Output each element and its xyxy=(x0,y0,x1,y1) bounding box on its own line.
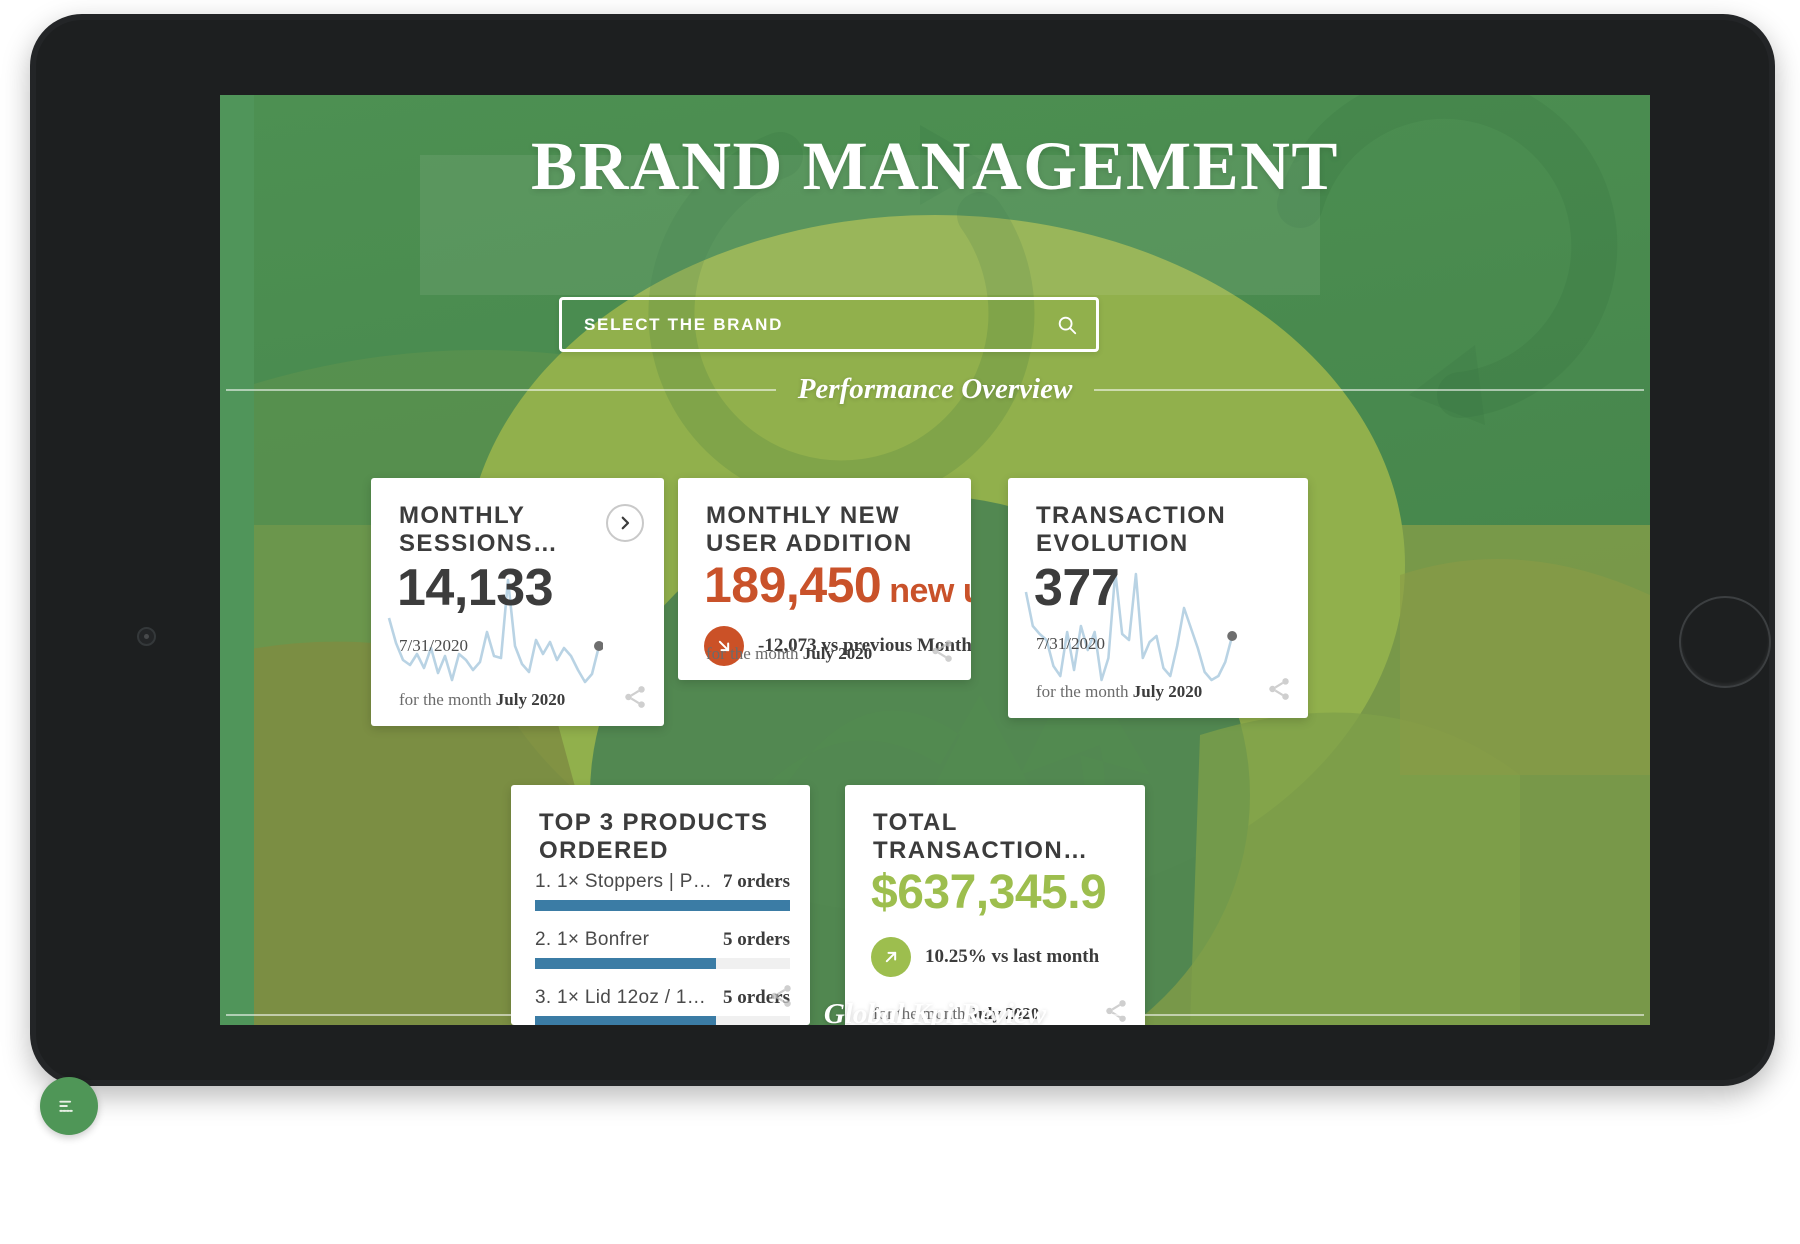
share-icon[interactable] xyxy=(929,638,955,664)
camera-icon xyxy=(137,627,156,646)
share-icon[interactable] xyxy=(622,684,648,710)
chevron-right-icon[interactable] xyxy=(606,504,644,542)
card-total-transaction[interactable]: TOTAL TRANSACTION… $637,345.9 10.25% vs … xyxy=(845,785,1145,1025)
card-monthly-new-user-addition[interactable]: MONTHLY NEW USER ADDITION 189,450new use… xyxy=(678,478,971,680)
kpi-value-row: 189,450new use xyxy=(704,556,971,614)
card-title: TOP 3 PRODUCTS ORDERED xyxy=(539,809,799,866)
delta-text: 10.25% vs last month xyxy=(925,946,1099,968)
product-name: 2. 1× Bonfrer xyxy=(535,929,649,951)
share-icon[interactable] xyxy=(1266,676,1292,702)
search-icon[interactable] xyxy=(1056,314,1078,336)
search-input[interactable]: SELECT THE BRAND xyxy=(584,315,1056,335)
footer-prefix: for the month xyxy=(706,644,799,663)
card-footer: for the month July 2020 xyxy=(1036,682,1202,702)
kpi-value: 189,450 xyxy=(704,557,881,613)
footer-prefix: for the month xyxy=(399,690,492,709)
delta-row: 10.25% vs last month xyxy=(871,937,1099,977)
section-divider-performance: Performance Overview xyxy=(220,373,1650,406)
card-title: MONTHLY NEW USER ADDITION xyxy=(706,502,956,559)
card-title: TRANSACTION EVOLUTION xyxy=(1036,502,1266,559)
card-footer: for the month July 2020 xyxy=(706,644,872,664)
list-item[interactable]: 2. 1× Bonfrer 5 orders xyxy=(535,929,790,969)
kpi-value: $637,345.9 xyxy=(871,865,1106,920)
tablet-device: BRAND MANAGEMENT SELECT THE BRAND Perfor… xyxy=(30,14,1775,1086)
product-orders: 7 orders xyxy=(723,871,790,893)
brand-search-box[interactable]: SELECT THE BRAND xyxy=(559,297,1099,352)
divider-rule-right xyxy=(1068,1014,1644,1016)
section-title-performance: Performance Overview xyxy=(798,373,1073,406)
card-transaction-evolution[interactable]: TRANSACTION EVOLUTION 377 7/31/2020 for … xyxy=(1008,478,1308,718)
product-bar-track xyxy=(535,900,790,911)
arrow-up-right-icon xyxy=(871,937,911,977)
footer-value: July 2020 xyxy=(803,644,872,663)
product-name: 1. 1× Stoppers | P… xyxy=(535,871,712,893)
kpi-value: 14,133 xyxy=(397,558,553,618)
menu-expand-icon[interactable] xyxy=(40,1077,98,1135)
page-title: BRAND MANAGEMENT xyxy=(220,127,1650,206)
home-button-icon[interactable] xyxy=(1679,596,1771,688)
footer-value: July 2020 xyxy=(1133,682,1202,701)
product-bar-fill xyxy=(535,958,716,969)
card-footer: for the month July 2020 xyxy=(399,690,565,710)
section-title-global: Global Kpi Review xyxy=(824,998,1046,1025)
divider-rule-left xyxy=(226,1014,802,1016)
divider-rule-left xyxy=(226,389,776,391)
kpi-value: 377 xyxy=(1034,558,1119,618)
sparkline-end-marker xyxy=(594,641,603,651)
card-monthly-sessions[interactable]: MONTHLY SESSIONS… 14,133 7/31/2020 for t… xyxy=(371,478,664,726)
footer-prefix: for the month xyxy=(1036,682,1129,701)
section-divider-global: Global Kpi Review xyxy=(220,998,1650,1025)
divider-rule-right xyxy=(1094,389,1644,391)
dashboard-page: BRAND MANAGEMENT SELECT THE BRAND Perfor… xyxy=(220,95,1650,1025)
card-title: TOTAL TRANSACTION… xyxy=(873,809,1123,866)
sparkline-end-marker xyxy=(1227,631,1237,641)
product-bar-track xyxy=(535,958,790,969)
card-top-3-products-ordered[interactable]: TOP 3 PRODUCTS ORDERED 1. 1× Stoppers | … xyxy=(511,785,810,1025)
tablet-screen: BRAND MANAGEMENT SELECT THE BRAND Perfor… xyxy=(220,95,1650,1025)
kpi-date: 7/31/2020 xyxy=(1036,634,1105,654)
card-title: MONTHLY SESSIONS… xyxy=(399,502,629,559)
kpi-date: 7/31/2020 xyxy=(399,636,468,656)
footer-value: July 2020 xyxy=(496,690,565,709)
list-item[interactable]: 1. 1× Stoppers | P… 7 orders xyxy=(535,871,790,911)
product-bar-fill xyxy=(535,900,790,911)
product-orders: 5 orders xyxy=(723,929,790,951)
kpi-unit: new use xyxy=(889,572,971,610)
